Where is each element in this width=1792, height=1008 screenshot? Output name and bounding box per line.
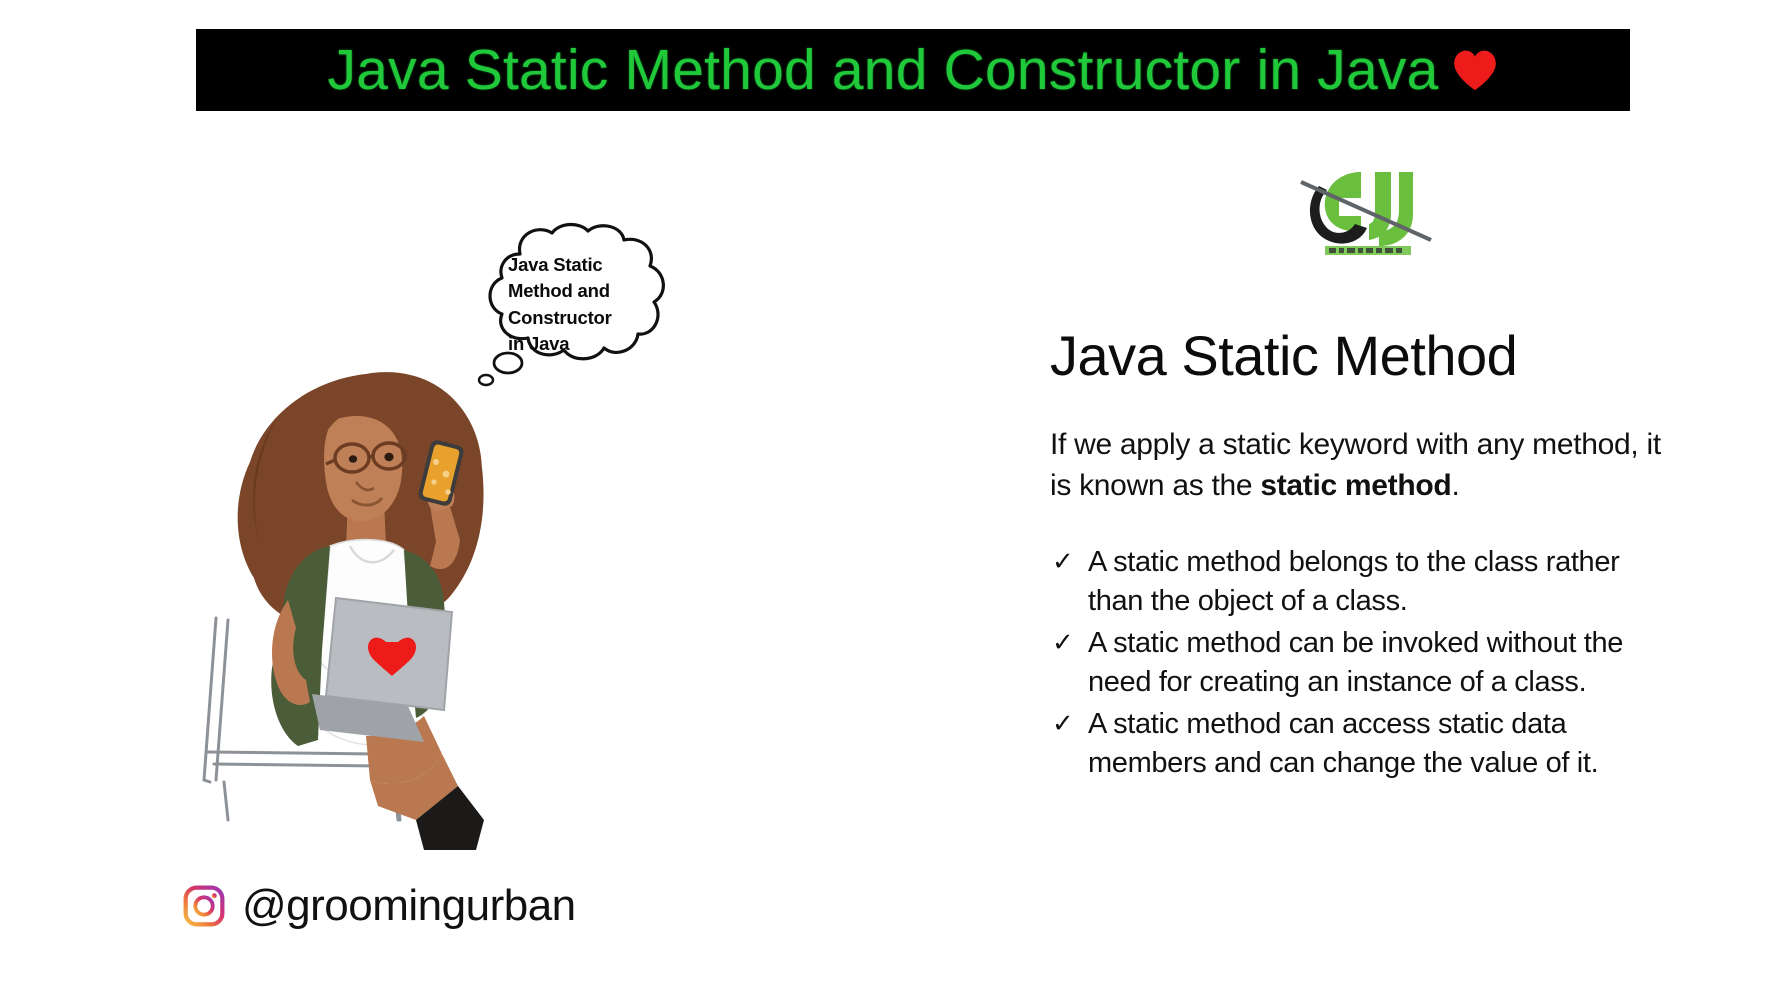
list-item: ✓ A static method belongs to the class r… xyxy=(1052,543,1668,622)
thought-line-3: Constructor xyxy=(508,305,646,331)
illustration-artwork xyxy=(180,350,550,850)
feature-bullet-list: ✓ A static method belongs to the class r… xyxy=(1052,543,1668,786)
social-handle[interactable]: @groomingurban xyxy=(182,884,576,928)
left-illustration-panel: Java Static Method and Constructor in Ja… xyxy=(0,120,780,1008)
logo-artwork xyxy=(1275,158,1445,268)
eye xyxy=(349,455,357,463)
intro-paragraph: If we apply a static keyword with any me… xyxy=(1050,425,1662,507)
thought-line-1: Java Static xyxy=(508,252,646,278)
title-banner: Java Static Method and Constructor in Ja… xyxy=(196,29,1630,111)
list-item-text: A static method can be invoked without t… xyxy=(1088,624,1668,703)
section-heading: Java Static Method xyxy=(1050,328,1517,384)
checkmark-icon: ✓ xyxy=(1052,705,1074,742)
intro-text-after: . xyxy=(1451,469,1459,502)
eye xyxy=(384,453,393,461)
checkmark-icon: ✓ xyxy=(1052,543,1074,580)
list-item-text: A static method can access static data m… xyxy=(1088,705,1668,784)
list-item: ✓ A static method can be invoked without… xyxy=(1052,624,1668,703)
logo-letter-u xyxy=(1369,172,1391,240)
instagram-handle-text: @groomingurban xyxy=(242,884,576,928)
checkmark-icon: ✓ xyxy=(1052,624,1074,661)
intro-text-bold: static method xyxy=(1260,469,1451,502)
heart-icon xyxy=(1452,48,1498,92)
list-item-text: A static method belongs to the class rat… xyxy=(1088,543,1668,622)
thought-line-2: Method and xyxy=(508,278,646,304)
thought-bubble-text: Java Static Method and Constructor in Ja… xyxy=(508,252,646,357)
grooming-urban-logo xyxy=(1275,158,1445,268)
instagram-icon[interactable] xyxy=(182,884,226,928)
woman-with-laptop-illustration xyxy=(180,350,550,850)
page-title: Java Static Method and Constructor in Ja… xyxy=(328,42,1439,99)
list-item: ✓ A static method can access static data… xyxy=(1052,705,1668,784)
